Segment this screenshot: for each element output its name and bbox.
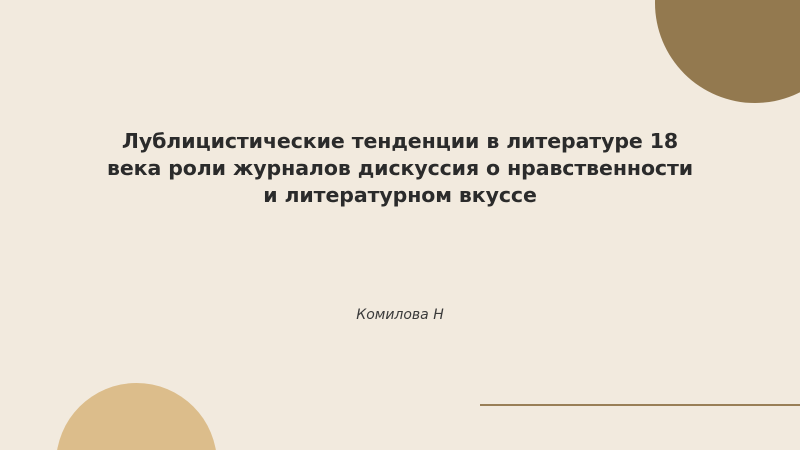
decorative-circle-bottom-left-icon: [56, 383, 217, 450]
accent-divider: [480, 404, 800, 406]
decorative-circle-top-right-icon: [655, 0, 800, 103]
page-title: Лублицистические тенденции в литературе …: [100, 128, 700, 209]
presentation-slide: Лублицистические тенденции в литературе …: [0, 0, 800, 450]
title-block: Лублицистические тенденции в литературе …: [100, 128, 700, 209]
author-name: Комилова Н: [100, 307, 700, 323]
